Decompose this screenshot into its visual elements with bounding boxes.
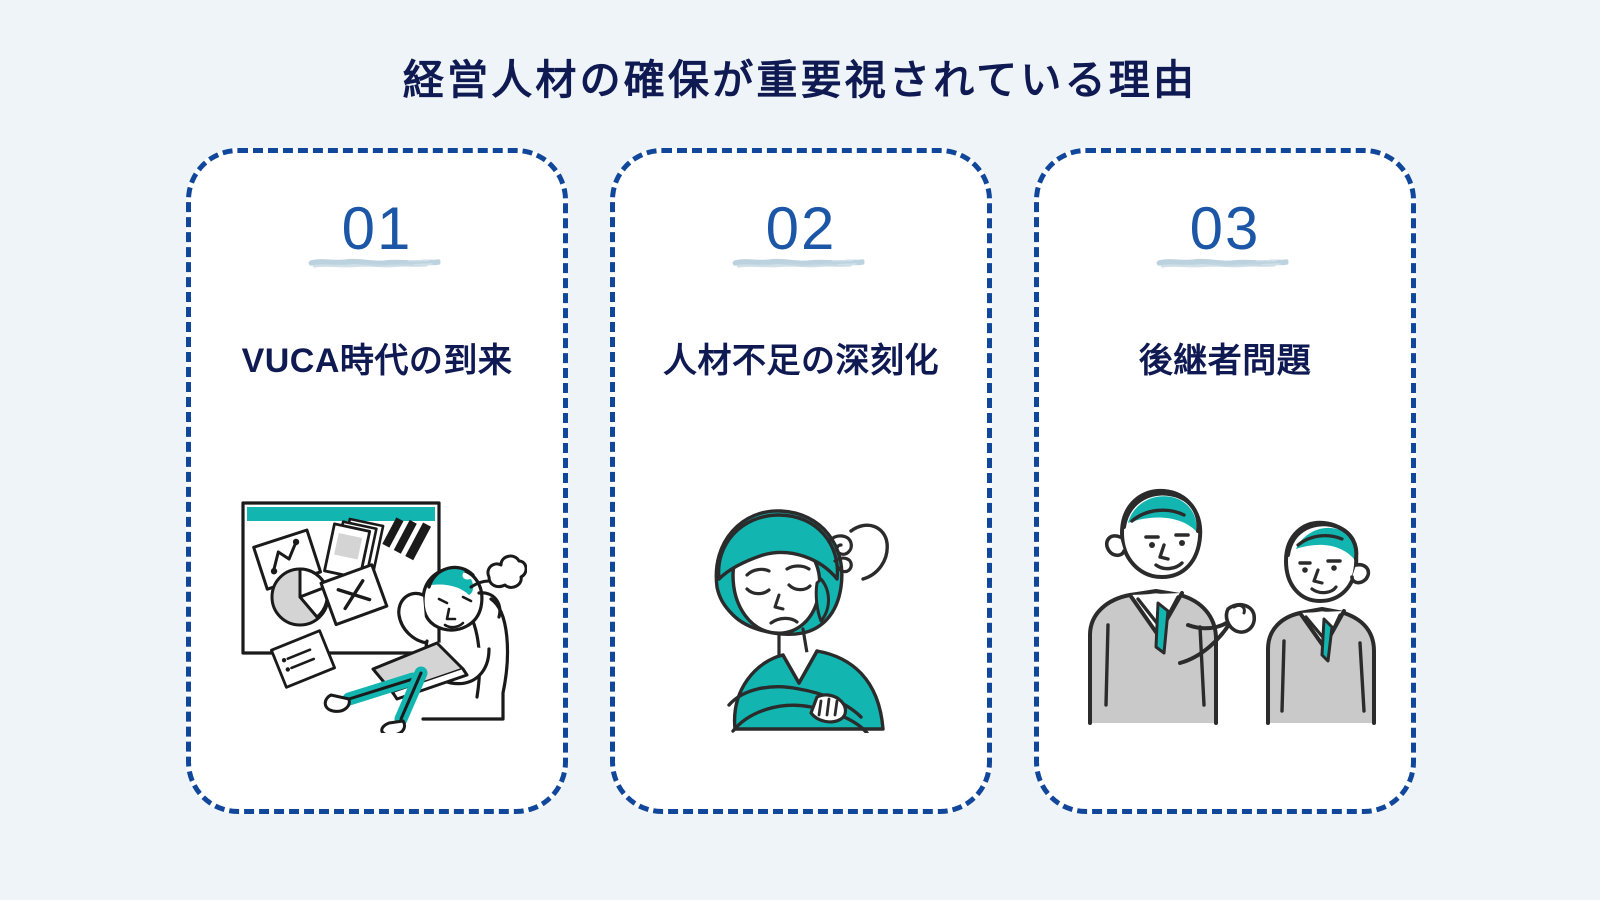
illustration-two-businessmen bbox=[1039, 475, 1411, 725]
card-02[interactable]: 02 人材不足の深刻化 bbox=[610, 148, 992, 814]
page-title: 経営人材の確保が重要視されている理由 bbox=[0, 46, 1600, 106]
slide-root: 経営人材の確保が重要視されている理由 01 VUCA時代の到来 bbox=[0, 0, 1600, 900]
card-number-area-02: 02 bbox=[615, 199, 987, 275]
illustration-worried-woman bbox=[615, 483, 987, 733]
card-03[interactable]: 03 後継者問題 bbox=[1034, 148, 1416, 814]
card-number-area-01: 01 bbox=[191, 199, 563, 275]
card-number-02: 02 bbox=[766, 199, 837, 259]
illustration-03-svg bbox=[1060, 475, 1390, 725]
illustration-stressed-person-with-laptop bbox=[191, 483, 563, 733]
cards-container: 01 VUCA時代の到来 bbox=[186, 148, 1416, 816]
card-heading-01: VUCA時代の到来 bbox=[242, 333, 513, 382]
card-number-area-03: 03 bbox=[1039, 199, 1411, 275]
card-number-01: 01 bbox=[342, 199, 413, 259]
card-01[interactable]: 01 VUCA時代の到来 bbox=[186, 148, 568, 814]
card-heading-02: 人材不足の深刻化 bbox=[663, 333, 939, 382]
illustration-01-svg bbox=[227, 483, 527, 733]
illustration-02-svg bbox=[671, 483, 931, 733]
card-heading-03: 後継者問題 bbox=[1139, 333, 1312, 382]
card-number-03: 03 bbox=[1190, 199, 1261, 259]
